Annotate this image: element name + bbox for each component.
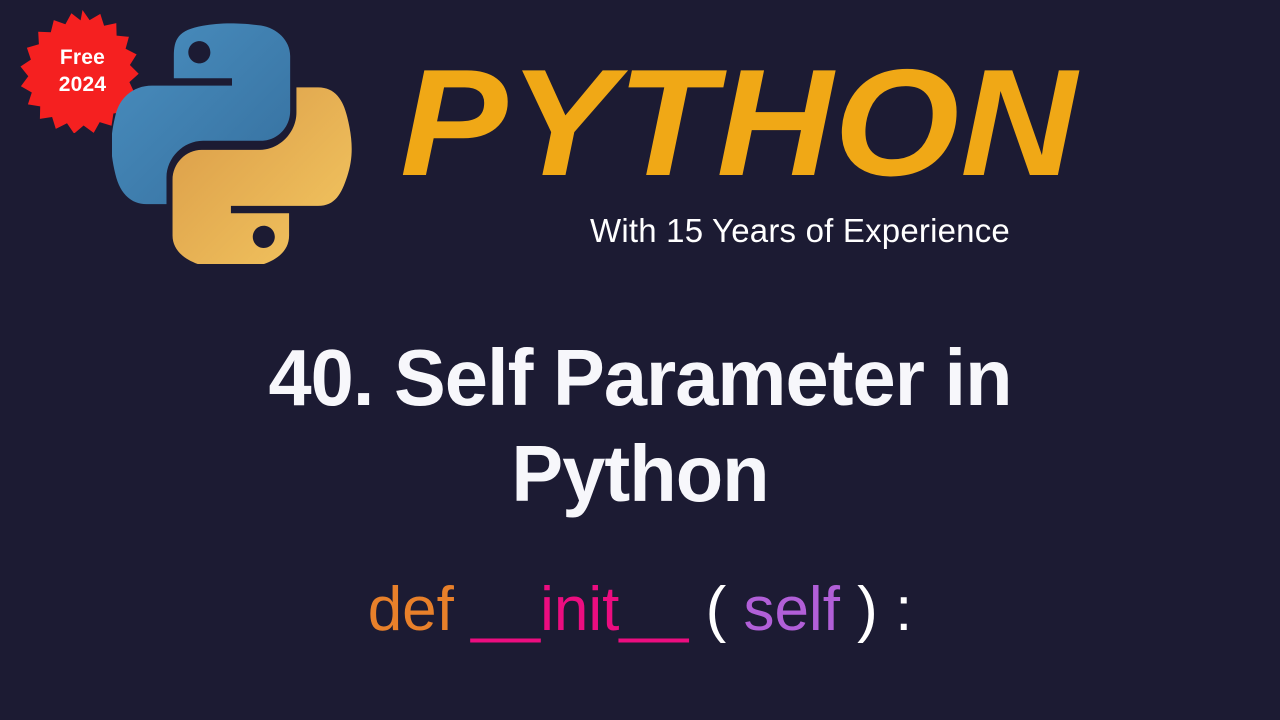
page-title-line-2: Python (19, 426, 1261, 522)
tagline: With 15 Years of Experience (400, 210, 1200, 252)
page-title: 40. Self Parameter in Python (0, 330, 1280, 522)
python-wordmark-text: PYTHON (400, 48, 1248, 198)
python-logo (112, 18, 352, 264)
page-title-line-1: 40. Self Parameter in (19, 330, 1261, 426)
code-snippet: def __init__ ( self ) : (0, 572, 1280, 648)
code-token-self: self (743, 575, 839, 644)
python-wordmark: PYTHON (400, 48, 1200, 198)
code-token-lparen: ( (706, 575, 727, 644)
header-band: Free 2024 (0, 0, 1280, 280)
code-token-init: __init__ (471, 575, 688, 644)
code-token-rparen: ) (857, 575, 878, 644)
badge-line-free: Free (60, 47, 105, 68)
code-token-def: def (368, 575, 454, 644)
code-token-colon: : (895, 575, 912, 644)
badge-line-year: 2024 (59, 74, 107, 95)
python-snakes-icon (112, 18, 352, 264)
slide-canvas: Free 2024 (0, 0, 1280, 720)
